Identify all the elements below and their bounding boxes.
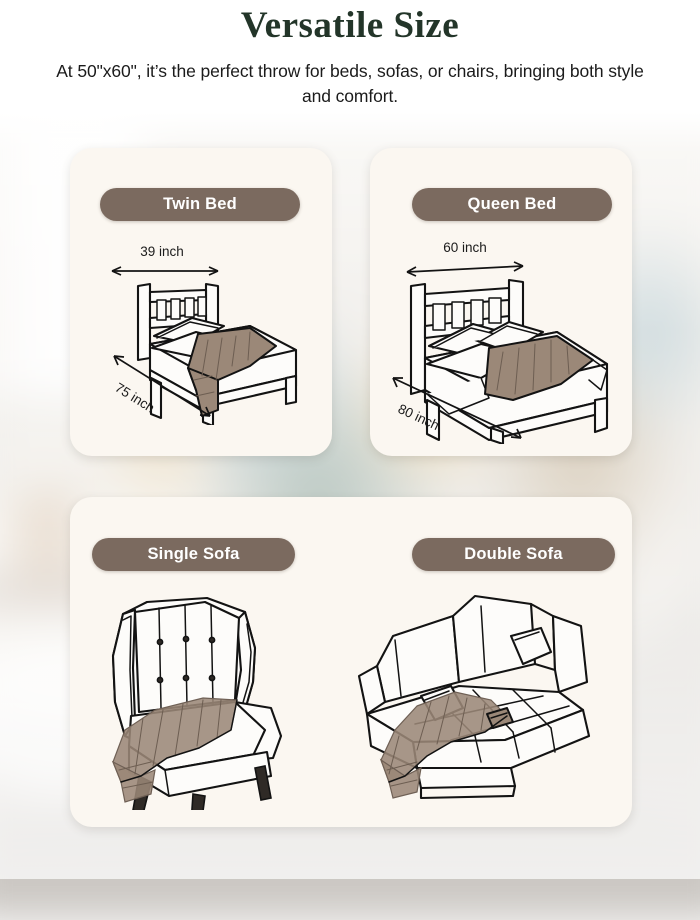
page-title: Versatile Size xyxy=(0,4,700,48)
twin-bed-drawing xyxy=(138,284,296,425)
pill-label-text: Queen Bed xyxy=(468,195,557,214)
header: Versatile Size At 50"x60", it’s the perf… xyxy=(0,0,700,109)
twin-width-dimension-label: 39 inch xyxy=(140,244,184,259)
page-subtitle: At 50"x60", it’s the perfect throw for b… xyxy=(0,59,700,109)
queen-bed-illustration: 60 inch xyxy=(385,228,621,444)
pill-label-text: Twin Bed xyxy=(163,195,237,214)
double-sofa-drawing xyxy=(359,596,589,798)
queen-width-arrow xyxy=(407,262,523,276)
label-pill-double-sofa: Double Sofa xyxy=(412,538,615,571)
label-pill-single-sofa: Single Sofa xyxy=(92,538,295,571)
single-sofa-drawing xyxy=(113,598,281,810)
twin-bed-illustration: 39 inch xyxy=(100,240,310,425)
queen-width-dimension-label: 60 inch xyxy=(443,240,487,255)
label-pill-twin-bed: Twin Bed xyxy=(100,188,300,221)
twin-width-arrow xyxy=(112,267,218,275)
pill-label-text: Double Sofa xyxy=(464,545,562,564)
double-sofa-illustration xyxy=(355,590,605,805)
single-sofa-illustration xyxy=(95,590,305,810)
pill-label-text: Single Sofa xyxy=(147,545,239,564)
label-pill-queen-bed: Queen Bed xyxy=(412,188,612,221)
